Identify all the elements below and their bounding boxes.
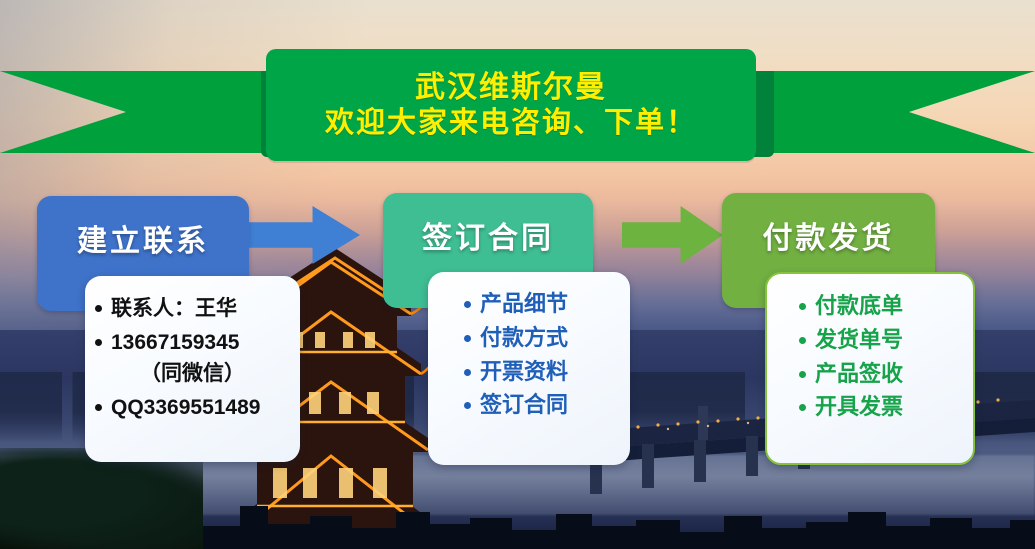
list-item: 开票资料	[464, 359, 620, 386]
step-3-panel: 付款底单 发货单号 产品签收 开具发票	[765, 272, 975, 465]
step-2-list: 产品细节 付款方式 开票资料 签订合同	[438, 291, 620, 419]
list-item: 产品细节	[464, 291, 620, 318]
bullet-icon	[464, 369, 471, 376]
list-item: 付款底单	[799, 293, 963, 320]
step-3-item-0: 付款底单	[815, 293, 903, 320]
bullet-icon	[95, 404, 102, 411]
ribbon-tail-left	[0, 71, 300, 153]
list-item: 付款方式	[464, 325, 620, 352]
step-1-item-1: 13667159345	[111, 330, 239, 356]
step-2-item-3: 签订合同	[480, 392, 568, 419]
bullet-icon	[95, 305, 102, 312]
step-3-list: 付款底单 发货单号 产品签收 开具发票	[777, 293, 963, 421]
step-1-item-0: 联系人：王华	[111, 296, 237, 322]
step-2-item-1: 付款方式	[480, 325, 568, 352]
step-3-item-2: 产品签收	[815, 361, 903, 388]
bullet-icon	[464, 402, 471, 409]
company-name: 武汉维斯尔曼	[415, 70, 607, 105]
step-3-title: 付款发货	[763, 213, 895, 257]
bullet-icon	[464, 301, 471, 308]
headline-banner: 武汉维斯尔曼 欢迎大家来电咨询、下单！	[266, 49, 756, 161]
step-3-item-3: 开具发票	[815, 394, 903, 421]
list-item: 产品签收	[799, 361, 963, 388]
foreground-tree-silhouette	[0, 448, 203, 549]
step-1-wechat-note: （同微信）	[95, 361, 290, 387]
list-item: 开具发票	[799, 394, 963, 421]
step-2-item-0: 产品细节	[480, 291, 568, 318]
step-1-subnote-row: （同微信）	[95, 361, 290, 387]
step-1-list: 联系人：王华 13667159345 （同微信） QQ3369551489	[95, 296, 290, 420]
bullet-icon	[799, 337, 806, 344]
list-item: 签订合同	[464, 392, 620, 419]
list-item: 13667159345	[95, 330, 290, 356]
ribbon-tail-right	[735, 71, 1035, 153]
step-1-panel: 联系人：王华 13667159345 （同微信） QQ3369551489	[85, 276, 300, 462]
bullet-icon	[799, 303, 806, 310]
promo-graphic: 武汉维斯尔曼 欢迎大家来电咨询、下单！ 建立联系 联系人：王华 13667159…	[0, 0, 1035, 549]
banner-subtitle: 欢迎大家来电咨询、下单！	[325, 106, 697, 140]
list-item: 发货单号	[799, 327, 963, 354]
step-3-item-1: 发货单号	[815, 327, 903, 354]
step-2-panel: 产品细节 付款方式 开票资料 签订合同	[428, 272, 630, 465]
step-2-title: 签订合同	[422, 213, 554, 257]
list-item: QQ3369551489	[95, 395, 290, 421]
list-item: 联系人：王华	[95, 296, 290, 322]
bullet-icon	[799, 371, 806, 378]
step-1-item-2: QQ3369551489	[111, 395, 260, 421]
bullet-icon	[95, 339, 102, 346]
bullet-icon	[464, 335, 471, 342]
bullet-icon	[799, 404, 806, 411]
step-1-title: 建立联系	[77, 216, 209, 260]
step-2-item-2: 开票资料	[480, 359, 568, 386]
